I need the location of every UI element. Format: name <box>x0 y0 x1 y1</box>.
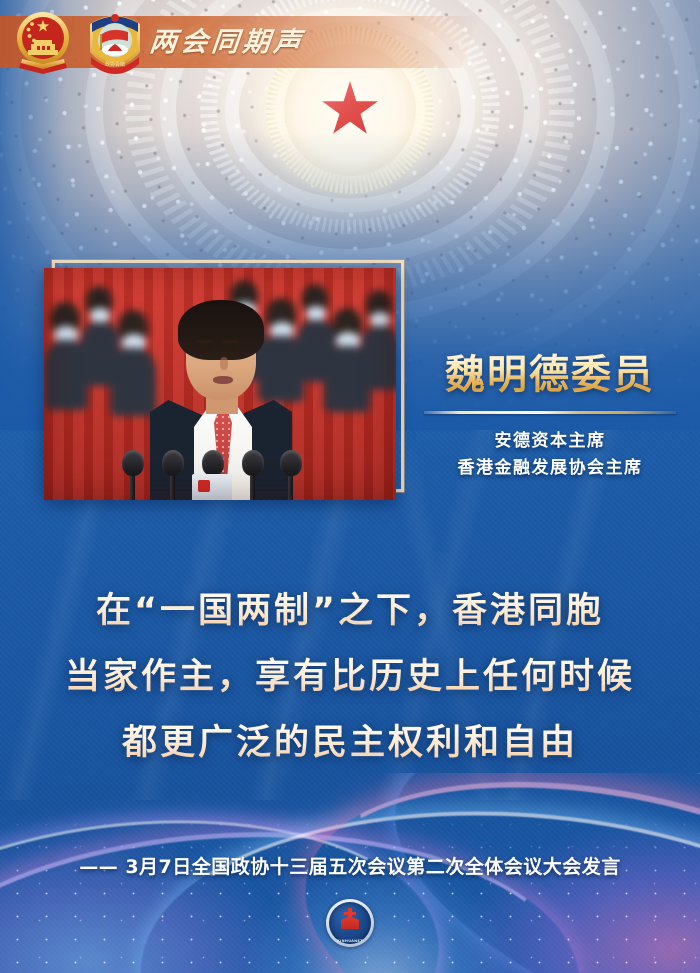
name-divider <box>424 411 676 414</box>
photo-vignette <box>44 268 396 500</box>
portrait-photo-container <box>44 268 396 500</box>
svg-text:政协会徽: 政协会徽 <box>105 61 125 68</box>
cppcc-emblem-icon: 政协会徽 <box>84 10 146 76</box>
logo-tower <box>341 916 359 929</box>
brand-title: 两会同期声 <box>148 20 307 59</box>
logo-tower-glyph <box>339 908 361 932</box>
national-emblem-icon <box>12 10 74 76</box>
speaker-title-2: 香港金融发展协会主席 <box>412 455 688 482</box>
attribution-line: —— 3月7日全国政协十三届五次会议第二次全体会议大会发言 <box>0 852 700 879</box>
logo-wordmark: XINHUANET <box>326 939 374 943</box>
quote-line-1: 在“一国两制”之下，香港同胞 <box>0 578 700 644</box>
portrait-photo <box>44 268 396 500</box>
speaker-title-1: 安德资本主席 <box>412 428 688 455</box>
speaker-titles: 安德资本主席 香港金融发展协会主席 <box>412 428 688 482</box>
quote-line-3: 都更广泛的民主权利和自由 <box>0 710 700 776</box>
speaker-name-block: 魏明德委员 安德资本主席 香港金融发展协会主席 <box>412 352 688 482</box>
speaker-name: 魏明德委员 <box>412 352 688 398</box>
quote-block: 在“一国两制”之下，香港同胞 当家作主，享有比历史上任何时候 都更广泛的民主权利… <box>0 578 700 776</box>
poster-canvas: 政协会徽 两会同期声 <box>0 0 700 973</box>
xinhua-logo-icon: XINHUANET <box>326 899 374 947</box>
quote-line-2: 当家作主，享有比历史上任何时候 <box>0 644 700 710</box>
header: 政协会徽 两会同期声 <box>0 0 700 86</box>
